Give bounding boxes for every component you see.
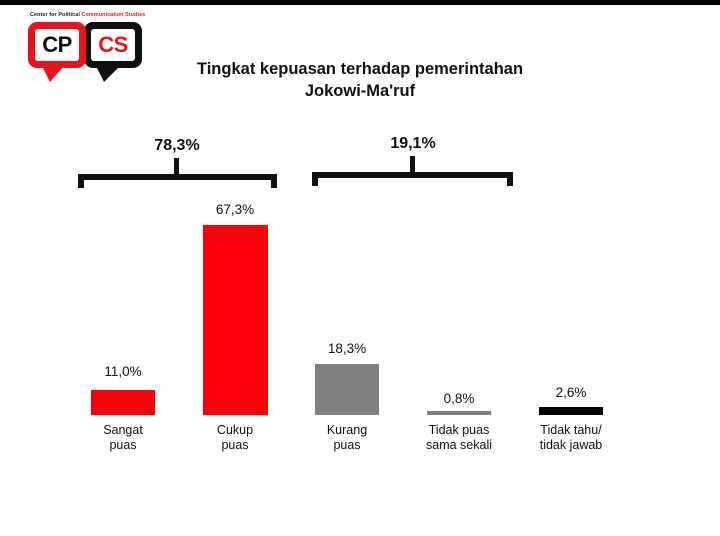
bar-tidak-puas-sama-sekali — [427, 411, 491, 415]
category-label-line-1: Tidak tahu/ — [501, 423, 641, 438]
bar-value-kurang-puas: 18,3% — [287, 341, 407, 357]
bar-value-cukup-puas: 67,3% — [175, 202, 295, 218]
bar-chart-plot-area: 11,0% Sangat puas 67,3% Cukup puas 18,3%… — [0, 0, 720, 536]
chart-slide: Center for Political Communication Studi… — [0, 0, 720, 536]
bar-value-tidak-tahu-tidak-jawab: 2,6% — [511, 385, 631, 401]
bar-kurang-puas — [315, 364, 379, 415]
category-label-line-2: tidak jawab — [501, 438, 641, 453]
bar-tidak-tahu-tidak-jawab — [539, 407, 603, 415]
bar-value-tidak-puas-sama-sekali: 0,8% — [399, 391, 519, 407]
bar-cukup-puas — [203, 225, 268, 415]
category-label-tidak-tahu-tidak-jawab: Tidak tahu/ tidak jawab — [501, 423, 641, 452]
bar-value-sangat-puas: 11,0% — [63, 364, 183, 380]
bar-sangat-puas — [91, 390, 155, 415]
